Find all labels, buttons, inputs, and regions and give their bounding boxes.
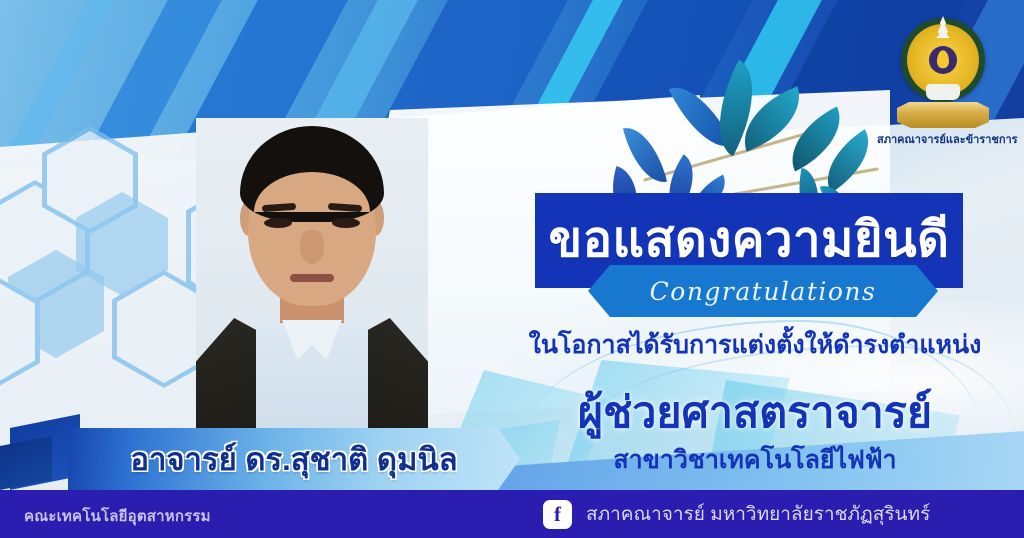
headline-main-text: ขอแสดงความยินดี xyxy=(549,216,950,265)
position-title: ผู้ช่วยศาสตราจารย์ xyxy=(520,378,990,446)
seal-core xyxy=(929,46,957,74)
honoree-name-ribbon: อาจารย์ ดร.สุชาติ ดุมนิล xyxy=(68,428,520,490)
congratulations-banner: สภาคณาจารย์และข้าราชการ ขอแสดงความยินดี … xyxy=(0,0,1024,538)
faculty-name: คณะเทคโนโลยีอุตสาหกรรม xyxy=(24,504,211,528)
seal-base-icon xyxy=(926,84,960,100)
seal-caption: สภาคณาจารย์และข้าราชการ xyxy=(877,130,1009,148)
seal-outer-ring xyxy=(901,18,985,102)
honoree-name: อาจารย์ ดร.สุชาติ ดุมนิล xyxy=(130,434,457,484)
occasion-line: ในโอกาสได้รับการแต่งตั้งให้ดำรงตำแหน่ง xyxy=(520,325,990,365)
congratulations-hexagon: Congratulations xyxy=(588,265,938,317)
seal-ribbon-icon xyxy=(897,102,989,128)
facebook-group[interactable]: f สภาคณาจารย์ มหาวิทยาลัยราชภัฏสุรินทร์ xyxy=(543,499,930,529)
seal-flame-icon xyxy=(937,50,949,68)
facebook-page-name[interactable]: สภาคณาจารย์ มหาวิทยาลัยราชภัฏสุรินทร์ xyxy=(586,499,930,529)
congratulations-script-text: Congratulations xyxy=(650,277,877,306)
footer-bar: คณะเทคโนโลยีอุตสาหกรรม f สภาคณาจารย์ มหา… xyxy=(0,490,1024,538)
facebook-icon[interactable]: f xyxy=(543,500,572,529)
university-seal: สภาคณาจารย์และข้าราชการ xyxy=(893,18,993,138)
field-of-study: สาขาวิชาเทคโนโลยีไฟฟ้า xyxy=(520,440,990,480)
